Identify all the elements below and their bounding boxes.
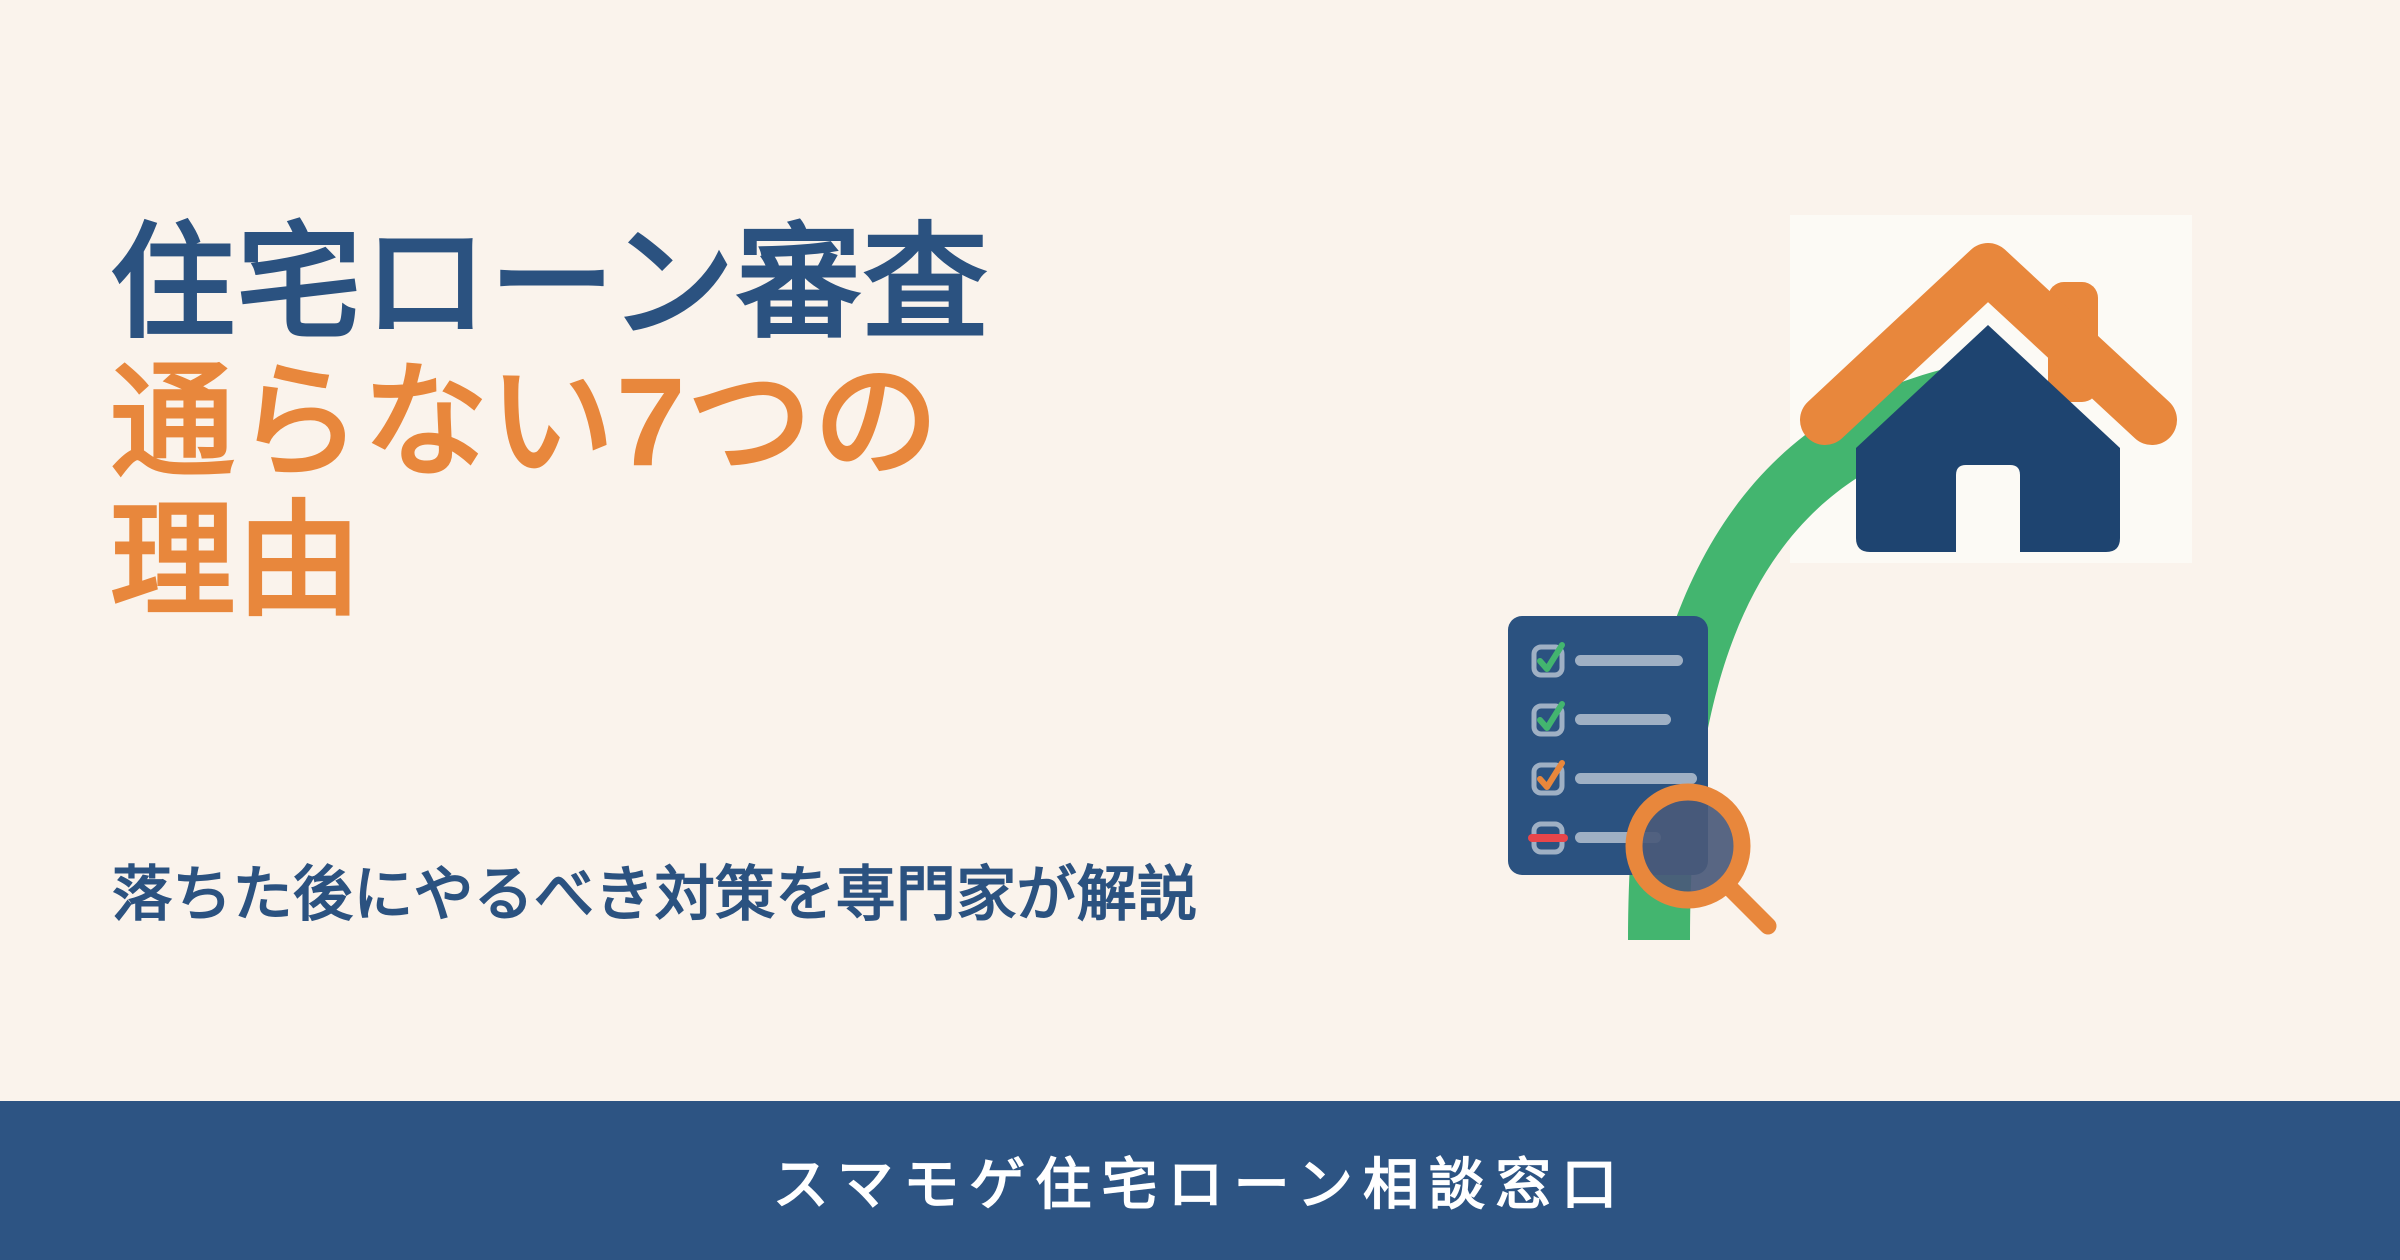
footer-brand-text: スマモゲ住宅ローン相談窓口	[773, 1140, 1628, 1221]
subtitle: 落ちた後にやるべき対策を専門家が解説	[112, 862, 1197, 928]
magnifier-handle	[1728, 886, 1768, 926]
reject-dash-icon	[1528, 834, 1568, 842]
poster-canvas: 住宅ローン審査 通らない7つの 理由 落ちた後にやるべき対策を専門家が解説	[0, 0, 2400, 1260]
headline-line-1: 住宅ローン審査	[110, 215, 1360, 354]
headline-line-2: 通らない7つの	[110, 354, 1360, 493]
checklist-text-bar	[1575, 655, 1683, 666]
checklist-text-bar	[1575, 714, 1671, 725]
house-door	[1956, 465, 2020, 552]
headline-block: 住宅ローン審査 通らない7つの 理由	[110, 215, 1360, 631]
checklist-text-bar	[1575, 773, 1697, 784]
headline-line-3: 理由	[110, 493, 1360, 632]
illustration-group	[1440, 140, 2260, 960]
footer-band: スマモゲ住宅ローン相談窓口	[0, 1101, 2400, 1260]
